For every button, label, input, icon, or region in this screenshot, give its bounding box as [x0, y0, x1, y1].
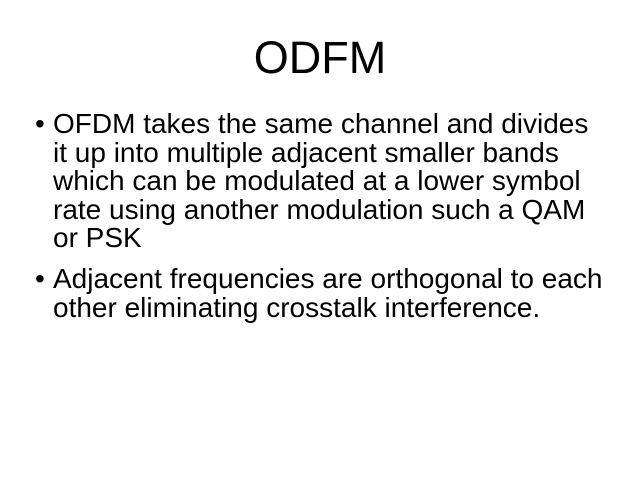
slide-body-content: • OFDM takes the same channel and divide…: [34, 110, 606, 322]
list-item-text: OFDM takes the same channel and divides …: [53, 110, 606, 253]
presentation-slide: ODFM • OFDM takes the same channel and d…: [0, 0, 640, 480]
list-item-text: Adjacent frequencies are orthogonal to e…: [53, 265, 606, 322]
list-item: • Adjacent frequencies are orthogonal to…: [34, 265, 606, 322]
bullet-dot-icon: •: [35, 265, 49, 294]
page-title: ODFM: [0, 33, 640, 83]
bullet-dot-icon: •: [35, 110, 49, 139]
list-item: • OFDM takes the same channel and divide…: [34, 110, 606, 253]
